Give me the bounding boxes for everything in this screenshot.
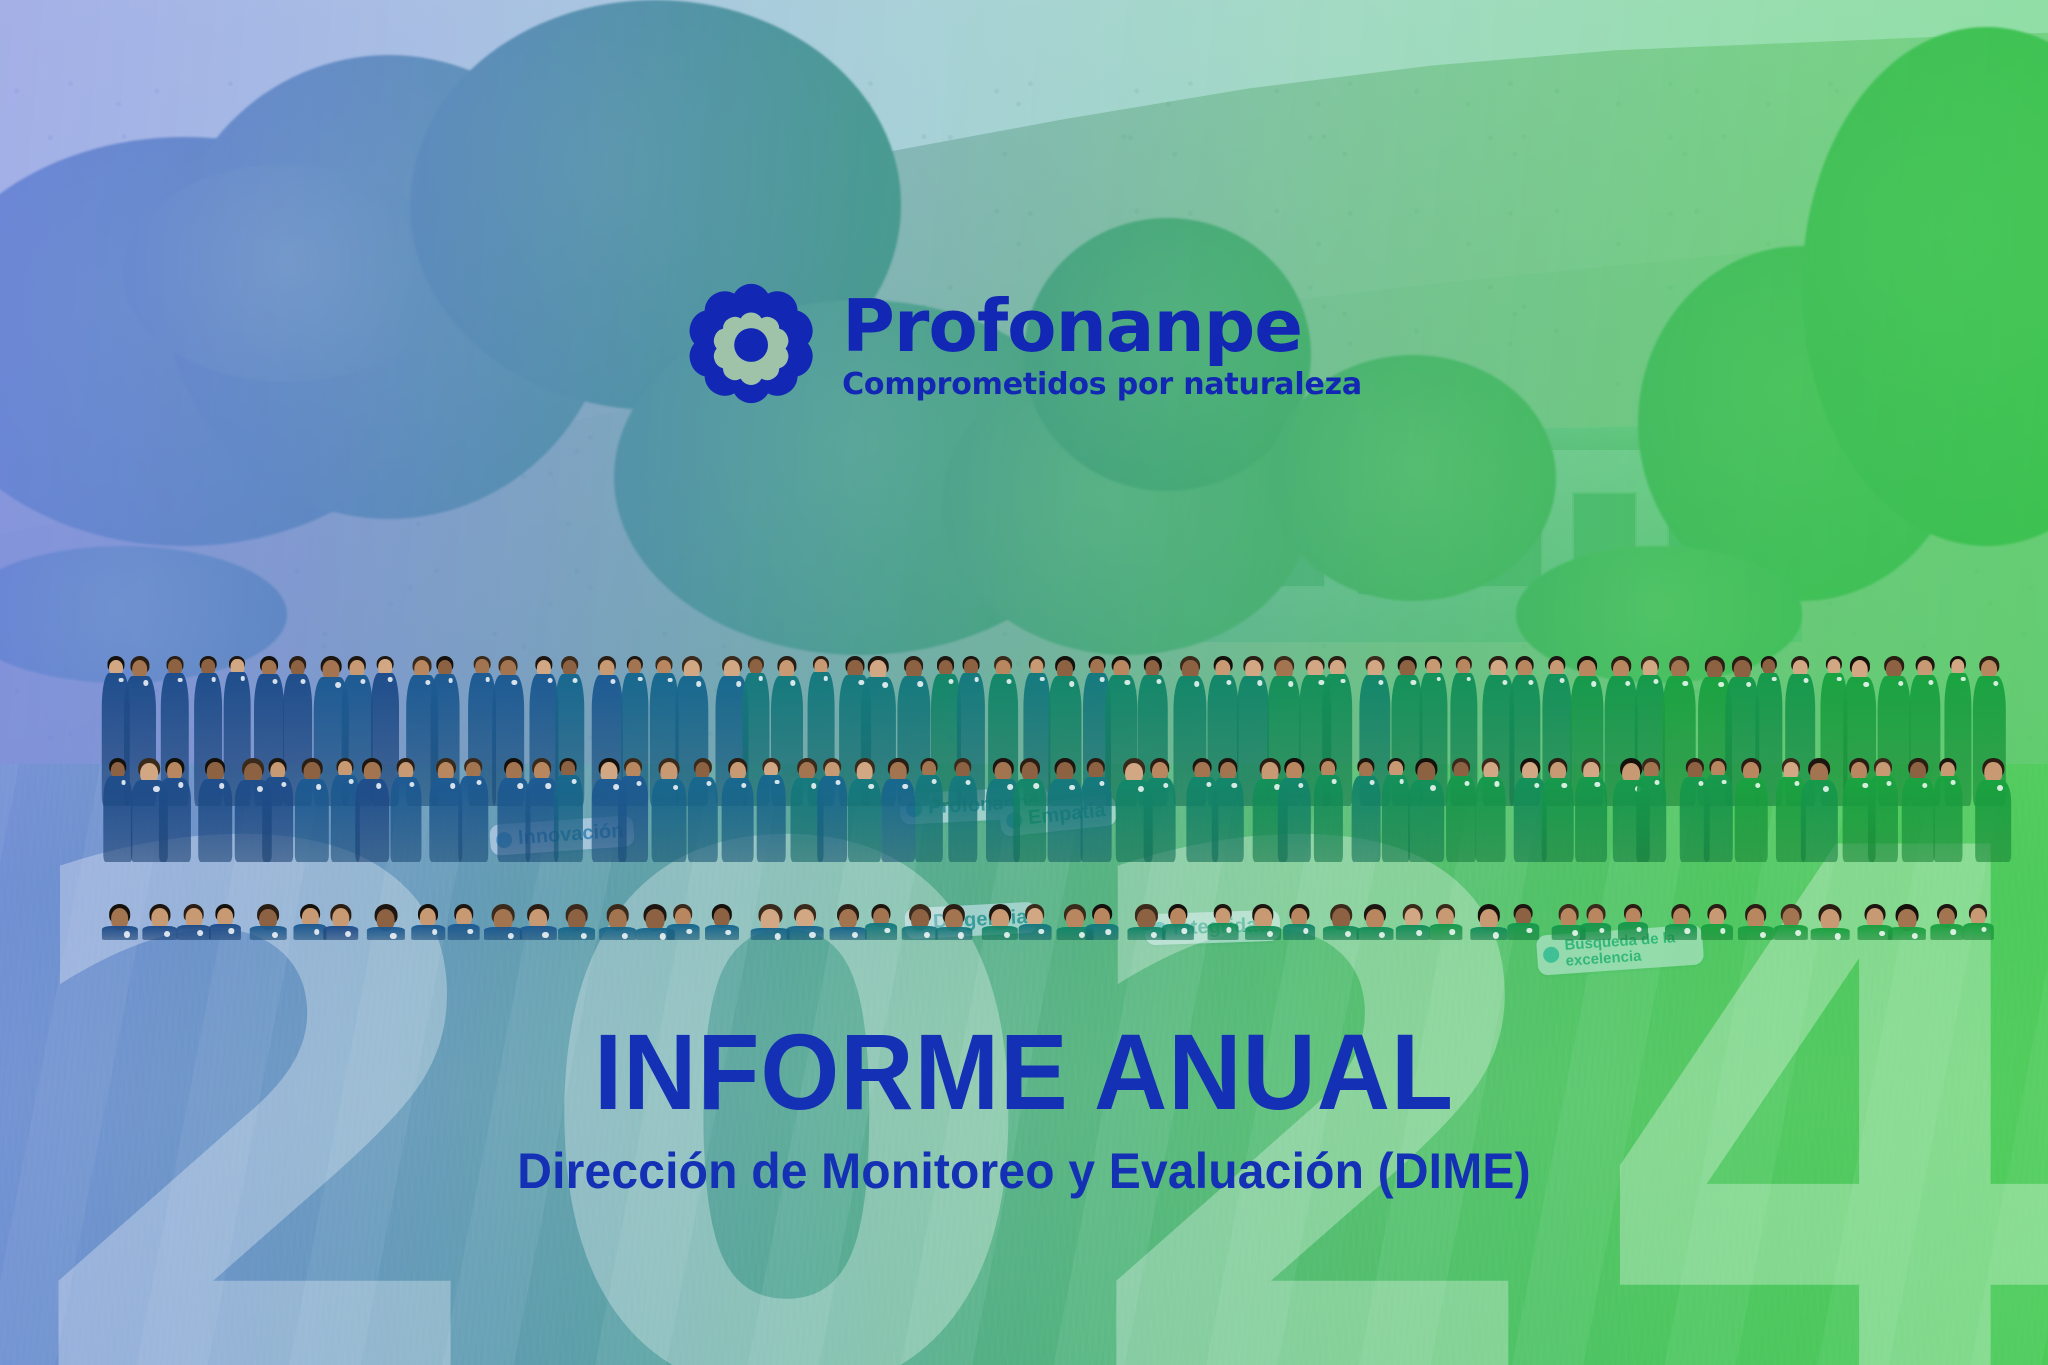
team-member-shirt <box>982 926 1018 940</box>
shirt-logo-icon <box>1399 779 1404 784</box>
team-member-shirt <box>1811 928 1850 940</box>
team-member <box>1802 758 1838 862</box>
shirt-logo-icon <box>1591 681 1597 687</box>
shirt-logo-icon <box>273 679 278 684</box>
team-member <box>818 758 847 862</box>
shirt-logo-icon <box>1795 930 1801 936</box>
shirt-logo-icon <box>1654 780 1659 785</box>
team-member-shirt <box>1245 926 1281 940</box>
team-member <box>177 904 211 940</box>
shirt-logo-icon <box>348 779 353 784</box>
team-member <box>1637 758 1666 862</box>
team-member <box>1868 758 1898 862</box>
shirt-logo-icon <box>1267 931 1273 937</box>
shirt-logo-icon <box>1040 677 1045 682</box>
shirt-logo-icon <box>974 677 979 682</box>
team-member <box>1128 904 1164 940</box>
team-member <box>752 904 790 940</box>
team-member-shirt <box>882 779 916 862</box>
shirt-logo-icon <box>1746 682 1752 688</box>
shirt-logo-icon <box>314 929 320 935</box>
team-member-shirt <box>1352 776 1381 862</box>
team-member <box>1471 904 1508 940</box>
shirt-logo-icon <box>638 677 643 682</box>
team-member-shirt <box>199 779 233 862</box>
shirt-logo-icon <box>432 929 438 935</box>
team-member-shirt <box>1128 927 1165 940</box>
team-member-shirt <box>484 927 522 940</box>
shirt-logo-icon <box>1194 681 1200 687</box>
team-member-shirt <box>294 924 327 940</box>
shirt-logo-icon <box>775 780 780 785</box>
team-member <box>1396 904 1430 940</box>
team-member <box>555 758 583 862</box>
shirt-logo-icon <box>1436 677 1441 682</box>
team-member <box>1576 758 1607 862</box>
team-member <box>1933 758 1961 862</box>
shirt-logo-icon <box>1100 677 1105 682</box>
shirt-logo-icon <box>1007 784 1013 790</box>
team-member-shirt <box>848 779 882 862</box>
team-member-shirt <box>1018 924 1051 940</box>
team-member-shirt <box>618 776 648 862</box>
shirt-logo-icon <box>1637 927 1642 932</box>
team-member <box>1409 758 1444 862</box>
team-member-shirt <box>262 777 294 861</box>
shirt-logo-icon <box>448 678 453 683</box>
shirt-logo-icon <box>882 682 888 688</box>
shirt-logo-icon <box>1034 783 1040 789</box>
team-member <box>1619 904 1648 940</box>
team-member <box>103 758 132 862</box>
shirt-logo-icon <box>197 930 203 936</box>
shirt-logo-icon <box>1837 677 1842 682</box>
team-member <box>1143 758 1175 862</box>
shirt-logo-icon <box>1416 930 1422 936</box>
shirt-logo-icon <box>1572 930 1578 936</box>
team-member-shirt <box>1143 778 1176 862</box>
team-member-shirt <box>915 775 943 861</box>
team-member <box>1315 758 1343 862</box>
shirt-logo-icon <box>1467 677 1472 682</box>
team-member <box>1048 758 1082 862</box>
shirt-logo-icon <box>1961 677 1966 682</box>
shirt-logo-icon <box>545 783 551 789</box>
profonanpe-flower-gear-icon <box>686 280 816 410</box>
team-member-shirt <box>1868 776 1898 861</box>
team-member-shirt <box>411 925 444 940</box>
team-member <box>356 758 389 862</box>
shirt-logo-icon <box>1288 681 1294 687</box>
team-member-shirt <box>1930 924 1963 939</box>
shirt-logo-icon <box>1772 677 1777 682</box>
team-member <box>982 904 1018 940</box>
shirt-logo-icon <box>345 931 351 937</box>
team-member-shirt <box>687 777 718 862</box>
team-member-shirt <box>1013 779 1046 862</box>
shirt-logo-icon <box>1951 780 1956 785</box>
team-member-shirt <box>103 776 132 862</box>
team-member-shirt <box>367 927 405 939</box>
team-member <box>787 904 823 940</box>
team-member-shirt <box>1211 778 1243 862</box>
team-member <box>1701 904 1732 940</box>
team-member-shirt <box>101 926 137 940</box>
team-member-shirt <box>355 779 388 862</box>
team-member-shirt <box>757 775 786 861</box>
team-member <box>1930 904 1963 940</box>
team-member-shirt <box>1963 923 1993 940</box>
team-member-shirt <box>935 927 972 940</box>
shirt-logo-icon <box>637 781 642 786</box>
team-member-shirt <box>1162 924 1194 940</box>
team-member-shirt <box>209 924 241 940</box>
team-member-shirt <box>1704 775 1732 861</box>
team-member <box>1352 758 1380 862</box>
team-member-shirt <box>1080 777 1111 862</box>
team-member <box>1811 904 1849 940</box>
team-member <box>485 904 522 940</box>
team-member-shirt <box>1284 924 1316 940</box>
team-member-shirt <box>1314 775 1342 862</box>
team-member-shirt <box>1701 924 1733 940</box>
team-member <box>526 758 558 862</box>
team-member <box>1284 904 1315 940</box>
shirt-logo-icon <box>1332 779 1337 784</box>
team-member <box>882 758 915 862</box>
team-member <box>430 758 463 862</box>
team-member-shirt <box>830 927 867 940</box>
team-member <box>412 904 445 940</box>
team-member-shirt <box>1323 926 1359 940</box>
team-member-shirt <box>1636 776 1666 862</box>
shirt-logo-icon <box>1449 929 1455 935</box>
shirt-logo-icon <box>668 678 673 683</box>
team-member <box>1508 904 1539 940</box>
team-member <box>1162 904 1194 940</box>
shirt-logo-icon <box>1721 780 1726 785</box>
team-member-shirt <box>1665 924 1697 940</box>
shirt-logo-icon <box>316 784 322 790</box>
shirt-logo-icon <box>725 930 731 936</box>
team-member-shirt <box>1774 925 1808 940</box>
team-member-shirt <box>818 776 848 862</box>
team-member-shirt <box>390 777 421 862</box>
shirt-logo-icon <box>547 678 552 683</box>
team-member-shirt <box>447 924 480 940</box>
shirt-logo-icon <box>121 780 126 785</box>
team-member <box>209 904 241 940</box>
team-member <box>1542 758 1574 862</box>
shirt-logo-icon <box>1007 679 1012 684</box>
team-member <box>250 904 286 940</box>
shirt-logo-icon <box>388 677 393 682</box>
shirt-logo-icon <box>673 785 679 791</box>
team-member-shirt <box>1575 777 1607 861</box>
team-member-shirt <box>666 924 699 940</box>
shirt-logo-icon <box>1069 681 1075 687</box>
team-member <box>1357 904 1393 940</box>
team-member <box>1976 758 2011 862</box>
shirt-logo-icon <box>966 780 971 785</box>
team-member <box>599 904 636 940</box>
team-member <box>1888 904 1926 940</box>
team-member <box>448 904 480 940</box>
team-member-shirt <box>1801 780 1837 862</box>
page-subtitle: Dirección de Monitoreo y Evaluación (DIM… <box>256 1144 1792 1199</box>
team-member-shirt <box>1470 927 1507 940</box>
team-member-shirt <box>295 779 329 862</box>
shirt-logo-icon <box>376 783 382 789</box>
team-member-shirt <box>1048 779 1083 861</box>
team-member <box>459 758 488 862</box>
team-member <box>722 758 754 862</box>
team-member <box>705 904 738 940</box>
shirt-logo-icon <box>1430 785 1436 791</box>
team-member <box>1324 904 1359 940</box>
shirt-logo-icon <box>450 783 456 789</box>
shirt-logo-icon <box>1950 929 1956 935</box>
team-member <box>294 904 326 940</box>
team-member <box>295 758 329 862</box>
team-member-shirt <box>1382 775 1410 862</box>
team-member <box>1447 758 1476 862</box>
shirt-logo-icon <box>1719 682 1725 688</box>
page-title: INFORME ANUAL <box>272 1018 1776 1126</box>
team-member <box>102 904 137 940</box>
shirt-logo-icon <box>868 784 874 790</box>
shirt-logo-icon <box>1369 780 1374 785</box>
shirt-logo-icon <box>1345 931 1351 937</box>
team-member-shirt <box>1737 926 1773 940</box>
team-member <box>199 758 232 862</box>
logo-wordmark: Profonanpe Comprometidos por naturaleza <box>842 290 1362 400</box>
team-member <box>159 758 191 862</box>
team-member-shirt <box>429 778 462 861</box>
team-member <box>323 904 358 940</box>
shirt-logo-icon <box>1879 931 1885 937</box>
team-member <box>1208 904 1238 940</box>
team-member <box>1738 904 1774 940</box>
team-member <box>1665 904 1696 940</box>
shirt-logo-icon <box>1069 785 1075 791</box>
team-member <box>558 904 595 940</box>
team-member <box>1736 758 1768 862</box>
team-member-shirt <box>250 926 287 939</box>
shirt-logo-icon <box>1887 781 1892 786</box>
report-cover: InnovaciónProfonanpeEmpatíaDiligenciaInt… <box>0 0 2048 1365</box>
team-member <box>1279 758 1311 862</box>
shirt-logo-icon <box>1341 679 1346 684</box>
team-member <box>688 758 718 862</box>
shirt-logo-icon <box>1465 781 1470 786</box>
profonanpe-logo-lockup: Profonanpe Comprometidos por naturaleza <box>686 280 1362 410</box>
team-member-shirt <box>787 926 824 939</box>
team-member <box>619 758 648 862</box>
team-member <box>757 758 785 862</box>
team-member-shirt <box>520 926 556 940</box>
team-member <box>262 758 293 862</box>
team-member-shirt <box>1933 776 1962 862</box>
team-member-shirt <box>1508 923 1539 940</box>
team-member-shirt <box>948 776 977 862</box>
team-member-shirt <box>1409 780 1445 862</box>
team-member-shirt <box>902 926 939 939</box>
team-member <box>948 758 977 862</box>
team-member <box>830 904 866 940</box>
shirt-logo-icon <box>486 677 491 682</box>
team-member-shirt <box>1429 924 1462 939</box>
team-member-shirt <box>651 779 686 861</box>
team-member-shirt <box>143 926 178 940</box>
team-member <box>1580 904 1611 940</box>
team-member-shirt <box>705 925 739 940</box>
shirt-logo-icon <box>1997 785 2003 791</box>
team-member <box>1081 758 1111 862</box>
team-member <box>865 904 896 940</box>
shirt-logo-icon <box>572 779 577 784</box>
team-member-shirt <box>323 926 359 940</box>
team-member <box>1212 758 1244 862</box>
shirt-logo-icon <box>696 681 702 687</box>
shirt-logo-icon <box>902 784 908 790</box>
team-member <box>1245 904 1280 940</box>
team-member <box>667 904 699 940</box>
team-member <box>143 904 178 940</box>
team-member <box>1903 758 1935 862</box>
team-member-shirt <box>558 927 596 940</box>
team-member-shirt <box>721 778 754 862</box>
shirt-logo-icon <box>477 780 482 785</box>
shirt-logo-icon <box>1863 682 1869 688</box>
shirt-logo-icon <box>573 678 578 683</box>
team-member <box>367 904 404 940</box>
team-member <box>848 758 881 862</box>
team-member-shirt <box>459 776 488 862</box>
shirt-logo-icon <box>178 678 183 683</box>
team-member-shirt <box>1618 922 1648 939</box>
shirt-logo-icon <box>1804 678 1809 683</box>
shirt-logo-icon <box>335 682 341 688</box>
team-member <box>652 758 686 862</box>
team-member <box>1019 904 1051 940</box>
team-member-shirt <box>176 925 211 940</box>
team-member <box>915 758 943 862</box>
shirt-logo-icon <box>1982 927 1987 932</box>
team-member <box>1475 758 1505 862</box>
shirt-logo-icon <box>211 677 216 682</box>
team-member-shirt <box>1542 778 1575 862</box>
team-member <box>1429 904 1462 940</box>
shirt-logo-icon <box>949 679 954 684</box>
shirt-logo-icon <box>517 783 523 789</box>
team-member-shirt <box>1446 776 1476 862</box>
team-member <box>1963 904 1993 940</box>
team-member-shirt <box>159 778 191 862</box>
shirt-logo-icon <box>917 681 923 687</box>
team-member-shirt <box>599 927 637 940</box>
team-member-shirt <box>751 928 790 940</box>
shirt-logo-icon <box>836 780 841 785</box>
team-member-shirt <box>1085 924 1118 940</box>
shirt-logo-icon <box>932 779 937 784</box>
team-member <box>936 904 973 940</box>
team-member-shirt <box>1395 925 1429 940</box>
team-member <box>1774 904 1808 940</box>
title-block: INFORME ANUAL Dirección de Monitoreo y E… <box>224 1018 1824 1199</box>
brand-tagline: Comprometidos por naturaleza <box>842 370 1362 400</box>
team-member-shirt <box>1976 780 2012 862</box>
team-member <box>1382 758 1410 862</box>
shirt-logo-icon <box>219 783 225 789</box>
shirt-logo-icon <box>759 676 764 681</box>
shirt-logo-icon <box>301 679 306 684</box>
team-member-shirt <box>1902 778 1935 862</box>
team-member <box>1086 904 1118 940</box>
shirt-logo-icon <box>736 681 742 687</box>
team-member-shirt <box>1278 778 1310 862</box>
team-member <box>1014 758 1047 862</box>
team-member-shirt <box>1475 777 1506 862</box>
team-member <box>520 904 556 940</box>
shirt-logo-icon <box>164 931 170 937</box>
team-member-shirt <box>865 923 897 939</box>
shirt-logo-icon <box>1560 678 1565 683</box>
team-member <box>390 758 421 862</box>
team-member-shirt <box>1888 927 1926 939</box>
team-member <box>902 904 938 940</box>
brand-name: Profonanpe <box>842 290 1362 362</box>
team-member-shirt <box>1356 927 1393 940</box>
team-member <box>1704 758 1732 862</box>
team-member-shirt <box>1580 923 1612 939</box>
team-member-shirt <box>1735 778 1768 862</box>
team-member-shirt <box>554 775 582 862</box>
team-member-shirt <box>1207 923 1238 940</box>
